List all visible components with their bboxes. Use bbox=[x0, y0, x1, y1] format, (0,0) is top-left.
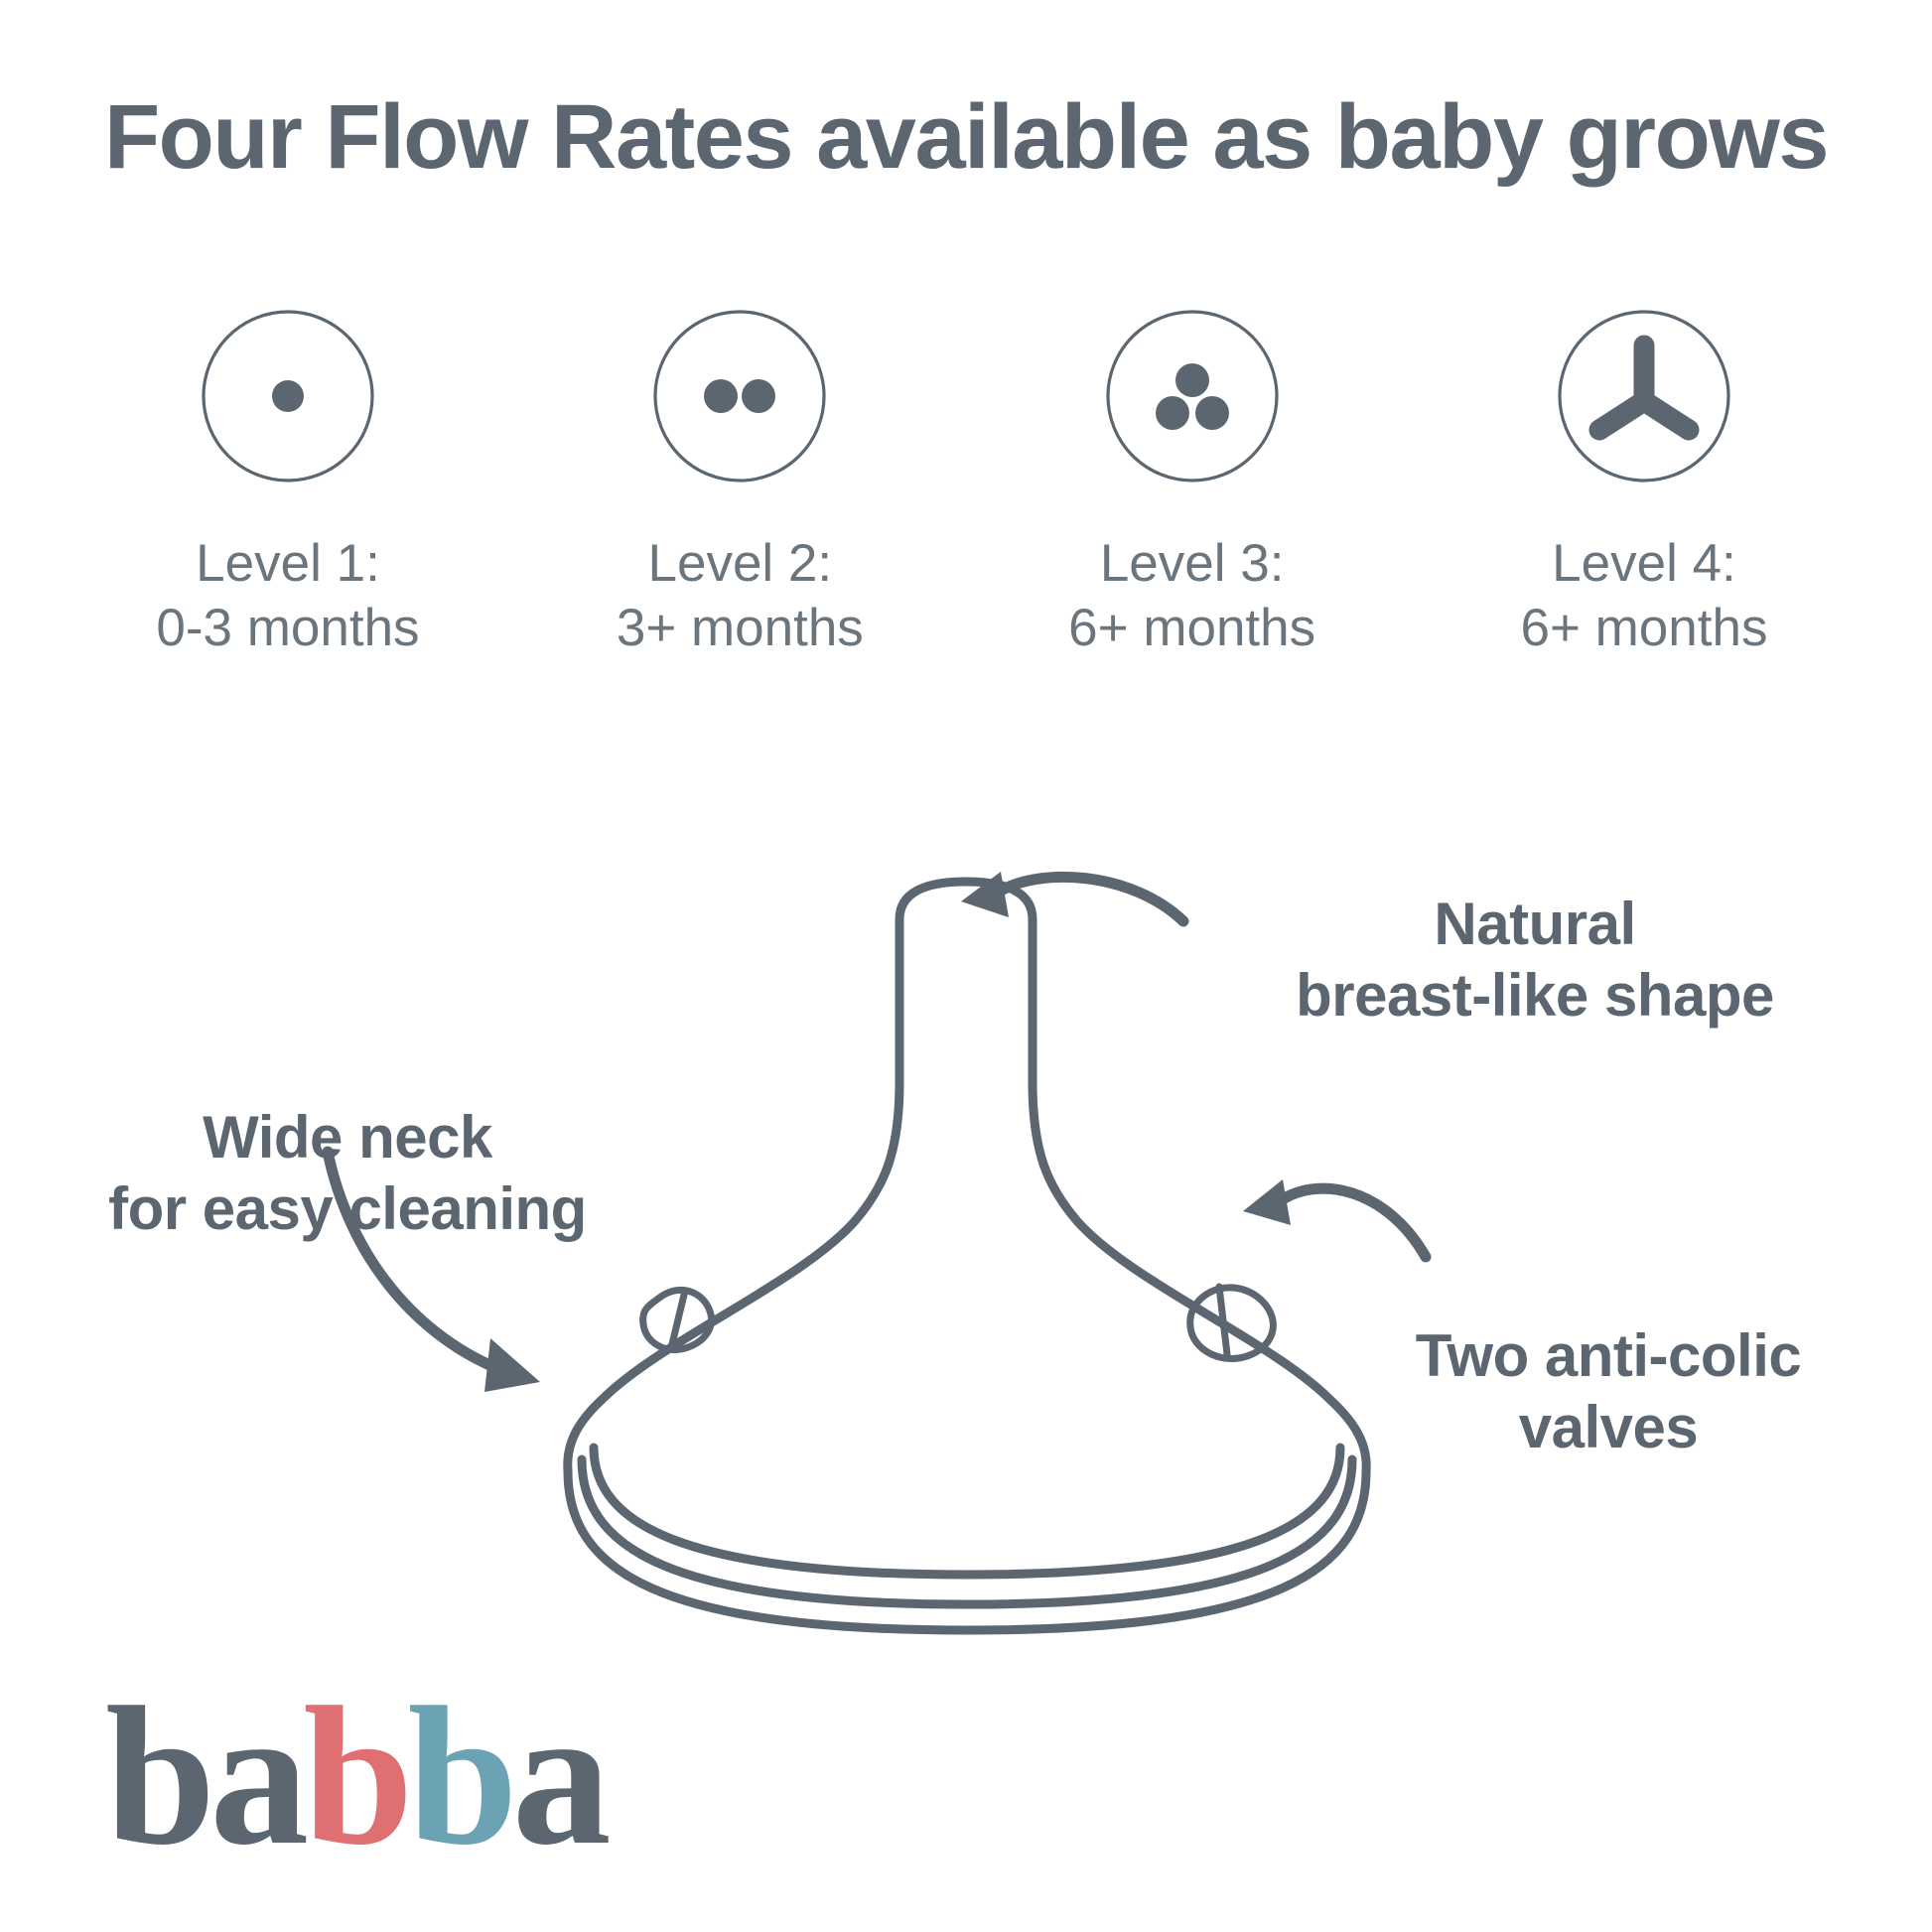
arrow-natural-shape bbox=[961, 872, 1183, 921]
callout-natural-shape: Natural breast-like shape bbox=[1187, 889, 1882, 1032]
flow-rate-item-level-1: Level 1:0-3 months bbox=[89, 308, 486, 660]
logo-part-a: a bbox=[512, 1667, 606, 1886]
flow-rate-label-level-2: Level 2:3+ months bbox=[617, 532, 864, 660]
flow-rate-label-level-1: Level 1:0-3 months bbox=[156, 532, 419, 660]
babba-logo: babba bbox=[105, 1678, 606, 1876]
one-hole-icon bbox=[200, 308, 376, 484]
two-hole-icon bbox=[651, 308, 828, 484]
logo-part-b-teal: b bbox=[407, 1667, 511, 1886]
flow-rate-label-level-4: Level 4:6+ months bbox=[1521, 532, 1768, 660]
flow-rate-level-1-age: 0-3 months bbox=[156, 599, 419, 657]
flow-rate-level-3-level: Level 3: bbox=[1100, 534, 1285, 593]
logo-part-b-coral: b bbox=[303, 1667, 407, 1886]
page-title: Four Flow Rates available as baby grows bbox=[0, 87, 1932, 188]
logo-part-ba: ba bbox=[105, 1667, 303, 1886]
flow-rate-item-level-3: Level 3:6+ months bbox=[994, 308, 1391, 660]
valve-right bbox=[1190, 1287, 1274, 1359]
flange-top-edge bbox=[594, 1448, 1340, 1575]
flow-rate-level-3-age: 6+ months bbox=[1068, 599, 1315, 657]
callout-anti-colic-valves: Two anti-colic valves bbox=[1320, 1320, 1896, 1463]
flow-rate-item-level-2: Level 2:3+ months bbox=[541, 308, 938, 660]
flow-rate-level-1-level: Level 1: bbox=[196, 534, 380, 593]
flow-rate-level-2-age: 3+ months bbox=[617, 599, 864, 657]
flow-rate-item-level-4: Level 4:6+ months bbox=[1446, 308, 1843, 660]
infographic-page: Four Flow Rates available as baby grows … bbox=[0, 0, 1932, 1932]
y-cut-icon bbox=[1556, 308, 1732, 484]
flow-rate-level-2-level: Level 2: bbox=[648, 534, 833, 593]
flow-rates-row: Level 1:0-3 months Level 2:3+ months bbox=[89, 308, 1843, 660]
callout-wide-neck: Wide neck for easy cleaning bbox=[40, 1102, 655, 1245]
flow-rate-level-4-level: Level 4: bbox=[1552, 534, 1736, 593]
flow-rate-level-4-age: 6+ months bbox=[1521, 599, 1768, 657]
flow-rate-label-level-3: Level 3:6+ months bbox=[1068, 532, 1315, 660]
flange-inner-rim bbox=[582, 1459, 1352, 1604]
arrow-valves bbox=[1243, 1179, 1426, 1257]
three-hole-icon bbox=[1104, 308, 1281, 484]
